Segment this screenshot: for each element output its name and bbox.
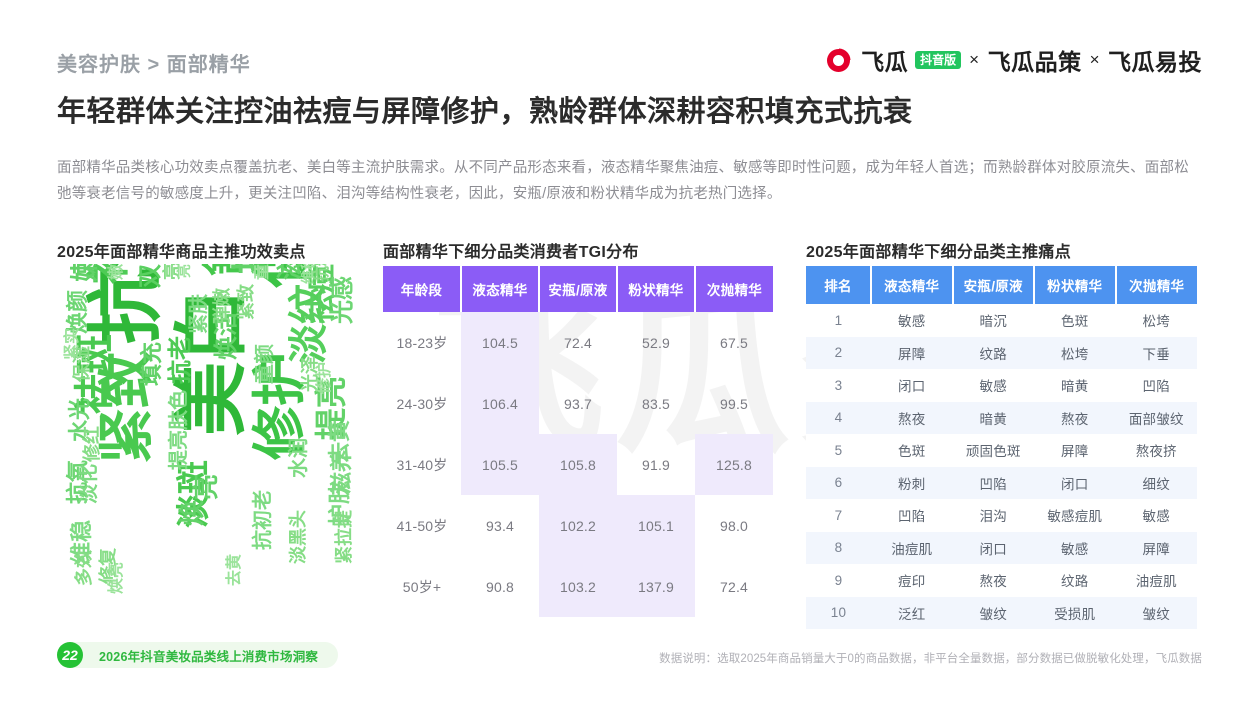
tgi-value-cell: 102.2 [539,495,617,556]
table-row: 41-50岁93.4102.2105.198.0 [383,495,773,556]
tgi-value-cell: 91.9 [617,434,695,495]
tgi-value-cell: 52.9 [617,312,695,373]
table-row: 5色斑顽固色斑屏障熬夜挤 [806,434,1197,467]
pain-value-cell: 面部皱纹 [1116,402,1198,435]
wordcloud-word: 嫩肤 [109,264,125,280]
brand-separator-2: × [1089,50,1101,70]
table-row: 8油痘肌闭口敏感屏障 [806,532,1197,565]
table-row: 1敏感暗沉色斑松垮 [806,304,1197,337]
pain-value-cell: 暗黄 [1034,369,1116,402]
wordcloud-word: 填充 [141,342,163,386]
footer-report-pill: 22 2026年抖音美妆品类线上消费市场洞察 [57,642,338,668]
pain-col-header: 排名 [806,266,871,304]
feigua-logo-icon [825,47,852,74]
table-header-row: 排名液态精华安瓶/原液粉状精华次抛精华 [806,266,1197,304]
tgi-col-header: 年龄段 [383,266,461,312]
wordcloud-word: 紧拉提 [335,510,353,564]
wordcloud-word: 紧肤 [189,294,209,334]
wordcloud-word: 童颜 [255,264,271,280]
tgi-distribution-table: 年龄段液态精华安瓶/原液粉状精华次抛精华18-23岁104.572.452.96… [383,266,773,617]
pain-value-cell: 闭口 [953,532,1035,565]
table-row: 18-23岁104.572.452.967.5 [383,312,773,373]
pain-value-cell: 痘印 [871,564,953,597]
wordcloud-word: 水润 [289,438,309,478]
tgi-value-cell: 93.4 [461,495,539,556]
tgi-age-label: 24-30岁 [383,373,461,434]
table-row: 4熬夜暗黄熬夜面部皱纹 [806,402,1197,435]
pain-value-cell: 松垮 [1034,337,1116,370]
pain-value-cell: 受损肌 [1034,597,1116,630]
table-row: 3闭口敏感暗黄凹陷 [806,369,1197,402]
tgi-value-cell: 83.5 [617,373,695,434]
pain-value-cell: 敏感 [953,369,1035,402]
table-row: 50岁+90.8103.2137.972.4 [383,556,773,617]
brand-separator-1: × [968,50,980,70]
tgi-col-header: 液态精华 [461,266,539,312]
tgi-value-cell: 105.5 [461,434,539,495]
pain-value-cell: 暗黄 [953,402,1035,435]
tgi-age-label: 41-50岁 [383,495,461,556]
tgi-value-cell: 105.1 [617,495,695,556]
wordcloud-word: 淡化 [79,464,99,504]
wordcloud-word: 紧实 [65,328,81,360]
tgi-value-cell: 90.8 [461,556,539,617]
wordcloud-word: 弹嫩 [213,288,231,324]
pain-value-cell: 熬夜 [1034,402,1116,435]
wordcloud-word: 抗老 [169,336,193,384]
tgi-value-cell: 72.4 [695,556,773,617]
wordcloud-word: 抗糖 [315,264,331,282]
wordcloud-word: 修护 [317,362,333,394]
wordcloud-chart: 抗皱美白保湿紧致修护补水舒缓控油祛斑淡纹提亮淡斑嫩肤滋润抗老填充焕颜水光抗氧维稳… [57,264,353,616]
pain-value-cell: 顽固色斑 [953,434,1035,467]
pain-col-header: 液态精华 [871,266,953,304]
pain-value-cell: 熬夜挤 [1116,434,1198,467]
tgi-value-cell: 106.4 [461,373,539,434]
tgi-value-cell: 104.5 [461,312,539,373]
pain-value-cell: 松垮 [1116,304,1198,337]
wordcloud-word: 亮 [193,474,219,500]
brand-product-pince: 飞瓜品策 [988,43,1082,77]
pain-rank-cell: 4 [806,402,871,435]
wordcloud-word: 抗初老 [253,490,273,550]
pain-col-header: 粉状精华 [1034,266,1116,304]
pain-value-cell: 粉刺 [871,467,953,500]
pain-value-cell: 油痘肌 [871,532,953,565]
pain-value-cell: 熬夜 [953,564,1035,597]
pain-value-cell: 熬夜 [871,402,953,435]
pain-rank-cell: 1 [806,304,871,337]
section-title-painpoints: 2025年面部精华下细分品类主推痛点 [806,238,1071,262]
pain-value-cell: 闭口 [1034,467,1116,500]
tgi-value-cell: 137.9 [617,556,695,617]
tgi-col-header: 次抛精华 [695,266,773,312]
table-row: 9痘印熬夜纹路油痘肌 [806,564,1197,597]
pain-value-cell: 屏障 [1116,532,1198,565]
painpoint-ranking-table: 排名液态精华安瓶/原液粉状精华次抛精华1敏感暗沉色斑松垮2屏障纹路松垮下垂3闭口… [806,266,1197,629]
pain-value-cell: 下垂 [1116,337,1198,370]
brand-name: 飞瓜 [861,43,908,77]
pain-value-cell: 油痘肌 [1116,564,1198,597]
pain-col-header: 次抛精华 [1116,266,1198,304]
wordcloud-word: 去黄 [227,554,243,586]
wordcloud-word: 多效 [75,550,93,586]
table-row: 31-40岁105.5105.891.9125.8 [383,434,773,495]
pain-value-cell: 凹陷 [1116,369,1198,402]
tgi-value-cell: 72.4 [539,312,617,373]
breadcrumb: 美容护肤 > 面部精华 [57,48,251,77]
pain-col-header: 安瓶/原液 [953,266,1035,304]
douyin-edition-badge: 抖音版 [915,51,961,69]
pain-rank-cell: 8 [806,532,871,565]
pain-value-cell: 细纹 [1116,467,1198,500]
section-title-tgi: 面部精华下细分品类消费者TGI分布 [383,238,639,262]
wordcloud-word: 童颜 [255,344,275,384]
wordcloud-word: 维稳修复 [301,264,315,284]
pain-value-cell: 纹路 [1034,564,1116,597]
pain-value-cell: 敏感 [1116,499,1198,532]
pain-value-cell: 敏感 [871,304,953,337]
pain-value-cell: 泪沟 [953,499,1035,532]
table-row: 6粉刺凹陷闭口细纹 [806,467,1197,500]
pain-value-cell: 敏感 [1034,532,1116,565]
footer-report-name: 2026年抖音美妆品类线上消费市场洞察 [99,646,318,665]
wordcloud-word: 紧致 [237,284,255,320]
pain-value-cell: 色斑 [1034,304,1116,337]
table-row: 10泛红皱纹受损肌皱纹 [806,597,1197,630]
pain-rank-cell: 5 [806,434,871,467]
table-row: 24-30岁106.493.783.599.5 [383,373,773,434]
tgi-value-cell: 105.8 [539,434,617,495]
pain-rank-cell: 10 [806,597,871,630]
pain-value-cell: 屏障 [871,337,953,370]
tgi-age-label: 31-40岁 [383,434,461,495]
pain-value-cell: 暗沉 [953,304,1035,337]
wordcloud-word: 嫩肤 [71,264,99,282]
pain-rank-cell: 6 [806,467,871,500]
tgi-age-label: 50岁+ [383,556,461,617]
tgi-value-cell: 93.7 [539,373,617,434]
page-description: 面部精华品类核心功效卖点覆盖抗老、美白等主流护肤需求。从不同产品形态来看，液态精… [57,155,1197,207]
wordcloud-word: 亮肤 [177,264,191,278]
pain-value-cell: 屏障 [1034,434,1116,467]
wordcloud-word: 双抗 [139,264,163,288]
tgi-age-label: 18-23岁 [383,312,461,373]
table-header-row: 年龄段液态精华安瓶/原液粉状精华次抛精华 [383,266,773,312]
brand-product-yitou: 飞瓜易投 [1108,43,1202,77]
pain-rank-cell: 9 [806,564,871,597]
pain-value-cell: 皱纹 [1116,597,1198,630]
pain-value-cell: 凹陷 [871,499,953,532]
pain-value-cell: 凹陷 [953,467,1035,500]
wordcloud-word: 修红 [83,426,101,462]
wordcloud-word: 光感 [331,276,353,324]
pain-value-cell: 纹路 [953,337,1035,370]
pain-rank-cell: 2 [806,337,871,370]
tgi-col-header: 粉状精华 [617,266,695,312]
wordcloud-word: 焕亮 [109,562,125,594]
pain-value-cell: 泛红 [871,597,953,630]
pain-value-cell: 闭口 [871,369,953,402]
brand-bar: 飞瓜 抖音版 × 飞瓜品策 × 飞瓜易投 [825,43,1202,77]
pain-value-cell: 色斑 [871,434,953,467]
wordcloud-word: 提亮肤色 [169,390,189,470]
tgi-value-cell: 125.8 [695,434,773,495]
footer-data-note: 数据说明：选取2025年商品销量大于0的商品数据，非平台全量数据，部分数据已做脱… [659,650,1202,666]
pain-rank-cell: 7 [806,499,871,532]
tgi-value-cell: 103.2 [539,556,617,617]
pain-value-cell: 皱纹 [953,597,1035,630]
tgi-value-cell: 99.5 [695,373,773,434]
tgi-value-cell: 67.5 [695,312,773,373]
tgi-value-cell: 98.0 [695,495,773,556]
table-row: 7凹陷泪沟敏感痘肌敏感 [806,499,1197,532]
section-title-wordcloud: 2025年面部精华商品主推功效卖点 [57,238,306,262]
page-title: 年轻群体关注控油祛痘与屏障修护，熟龄群体深耕容积填充式抗衰 [57,88,913,130]
pain-value-cell: 敏感痘肌 [1034,499,1116,532]
slide-page: 飞瓜数据 美容护肤 > 面部精华 飞瓜 抖音版 × 飞瓜品策 × 飞瓜易投 年轻… [0,0,1250,703]
page-number-badge: 22 [57,642,83,668]
wordcloud-word: 淡黑头 [289,510,307,564]
table-row: 2屏障纹路松垮下垂 [806,337,1197,370]
pain-rank-cell: 3 [806,369,871,402]
wordcloud-word: 焕 [179,500,205,526]
tgi-col-header: 安瓶/原液 [539,266,617,312]
